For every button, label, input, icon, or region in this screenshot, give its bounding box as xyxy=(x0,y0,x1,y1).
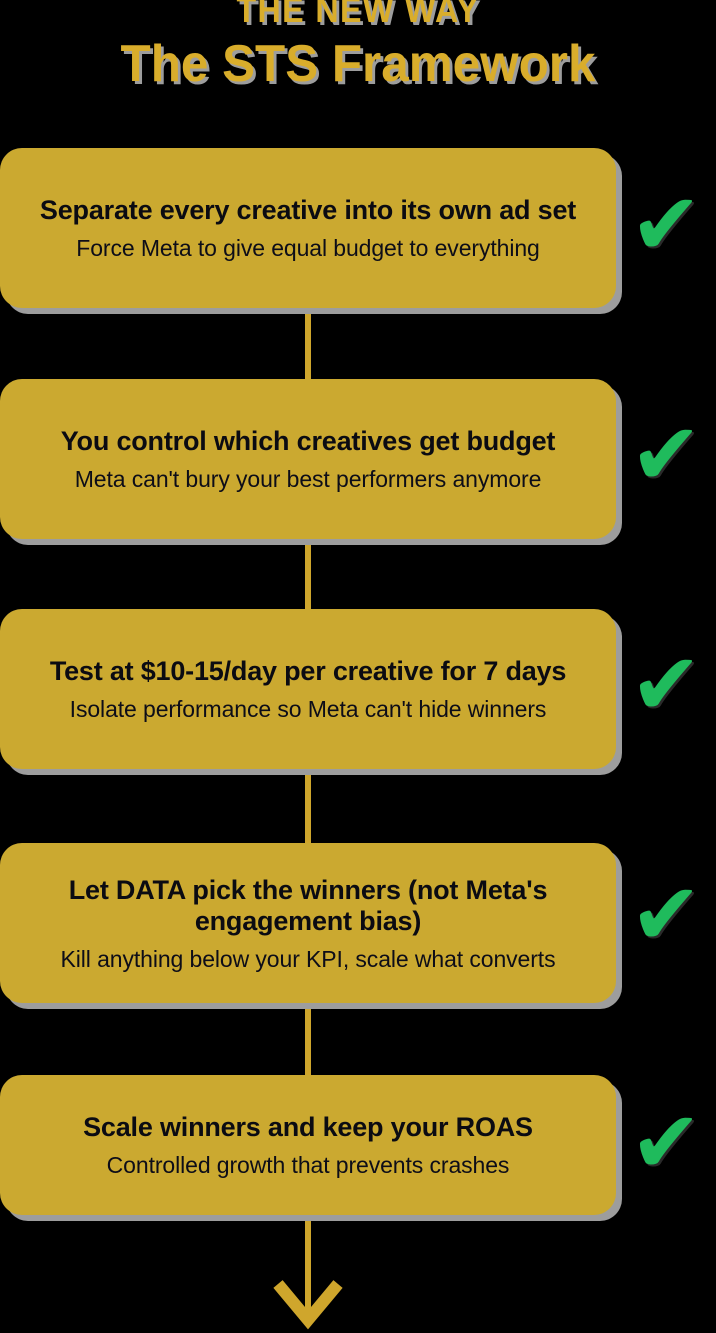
check-icon-2: ✔ xyxy=(630,412,702,498)
connector-1-2 xyxy=(305,305,311,385)
infographic-canvas: THE NEW WAY The STS Framework Separate e… xyxy=(0,0,716,1333)
page-title: The STS Framework xyxy=(18,33,698,95)
step-card-4[interactable]: Let DATA pick the winners (not Meta's en… xyxy=(0,843,616,1003)
step-card-1[interactable]: Separate every creative into its own ad … xyxy=(0,148,616,308)
check-icon-5: ✔ xyxy=(630,1100,702,1186)
check-icon-3: ✔ xyxy=(630,642,702,728)
step-subtitle: Meta can't bury your best performers any… xyxy=(75,466,542,492)
step-subtitle: Force Meta to give equal budget to every… xyxy=(76,235,539,261)
framework-flow: Separate every creative into its own ad … xyxy=(0,0,716,1333)
step-subtitle: Controlled growth that prevents crashes xyxy=(107,1152,510,1178)
step-subtitle: Isolate performance so Meta can't hide w… xyxy=(70,696,547,722)
check-icon-4: ✔ xyxy=(630,872,702,958)
step-card-2[interactable]: You control which creatives get budget M… xyxy=(0,379,616,539)
check-icon-1: ✔ xyxy=(630,182,702,268)
step-title: Test at $10-15/day per creative for 7 da… xyxy=(50,656,566,687)
connector-3-4 xyxy=(305,766,311,846)
step-subtitle: Kill anything below your KPI, scale what… xyxy=(61,946,556,972)
header-kicker: THE NEW WAY xyxy=(29,0,688,28)
step-card-5[interactable]: Scale winners and keep your ROAS Control… xyxy=(0,1075,616,1215)
header: THE NEW WAY The STS Framework xyxy=(0,0,716,95)
step-card-3[interactable]: Test at $10-15/day per creative for 7 da… xyxy=(0,609,616,769)
step-title: Let DATA pick the winners (not Meta's en… xyxy=(26,875,590,937)
step-title: You control which creatives get budget xyxy=(61,426,555,457)
step-title: Separate every creative into its own ad … xyxy=(40,195,576,226)
connector-2-3 xyxy=(305,536,311,616)
step-title: Scale winners and keep your ROAS xyxy=(83,1112,533,1143)
arrow-down-icon xyxy=(272,1276,344,1333)
connector-4-5 xyxy=(305,1000,311,1080)
